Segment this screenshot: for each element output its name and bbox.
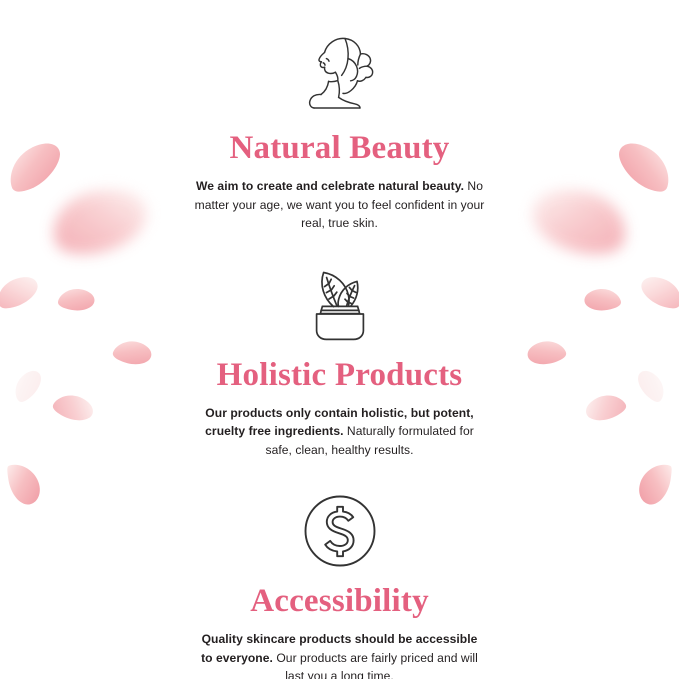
features-list: Natural Beauty We aim to create and cele… [0,0,679,679]
feature-description: Our products only contain holistic, but … [195,404,485,460]
feature-natural-beauty: Natural Beauty We aim to create and cele… [0,34,679,233]
dollar-coin-icon [301,492,379,570]
cream-jar-with-leaves-icon [293,267,387,343]
feature-title: Natural Beauty [229,132,449,165]
feature-description-lead: We aim to create and celebrate natural b… [196,179,464,193]
feature-title: Accessibility [250,585,429,618]
brand-values-page: Natural Beauty We aim to create and cele… [0,0,679,679]
woman-profile-line-art-icon [294,34,386,112]
feature-title: Holistic Products [217,359,463,392]
feature-description: We aim to create and celebrate natural b… [190,177,490,233]
feature-holistic-products: Holistic Products Our products only cont… [0,267,679,460]
feature-description-rest: Our products are fairly priced and will … [273,651,478,679]
feature-description: Quality skincare products should be acce… [200,630,480,679]
feature-accessibility: Accessibility Quality skincare products … [0,492,679,679]
